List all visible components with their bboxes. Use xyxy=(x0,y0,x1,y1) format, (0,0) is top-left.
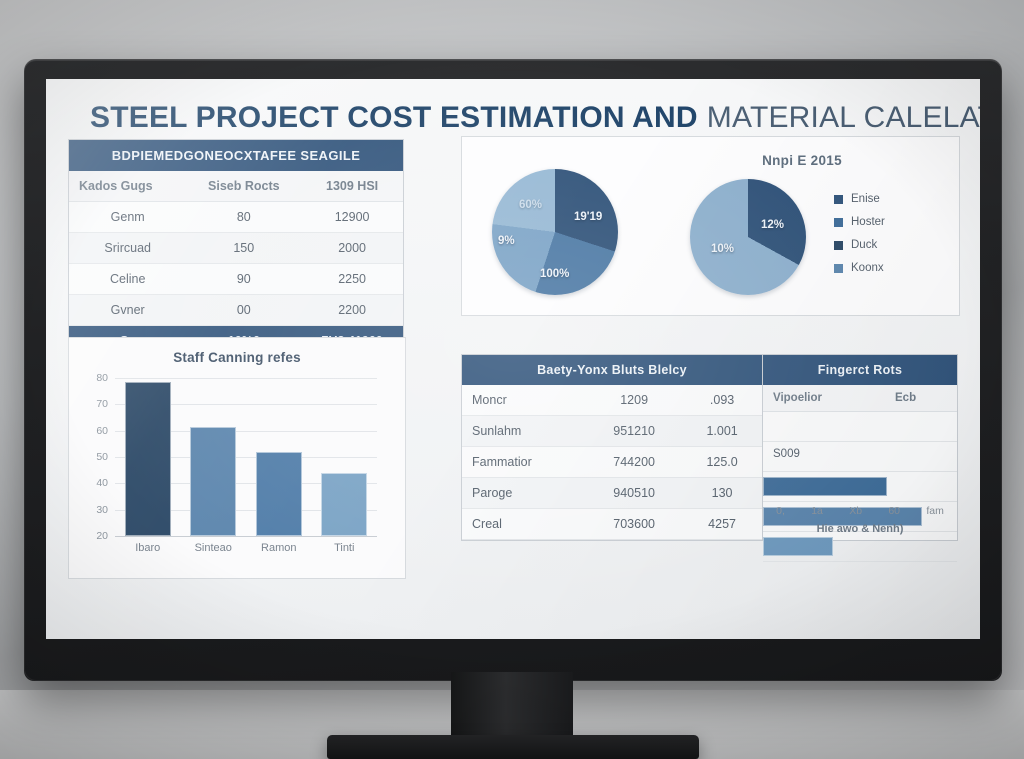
scene-vignette xyxy=(0,0,1024,759)
screenshot-scene: STEEL PROJECT COST ESTIMATION ANDMATERIA… xyxy=(0,0,1024,759)
